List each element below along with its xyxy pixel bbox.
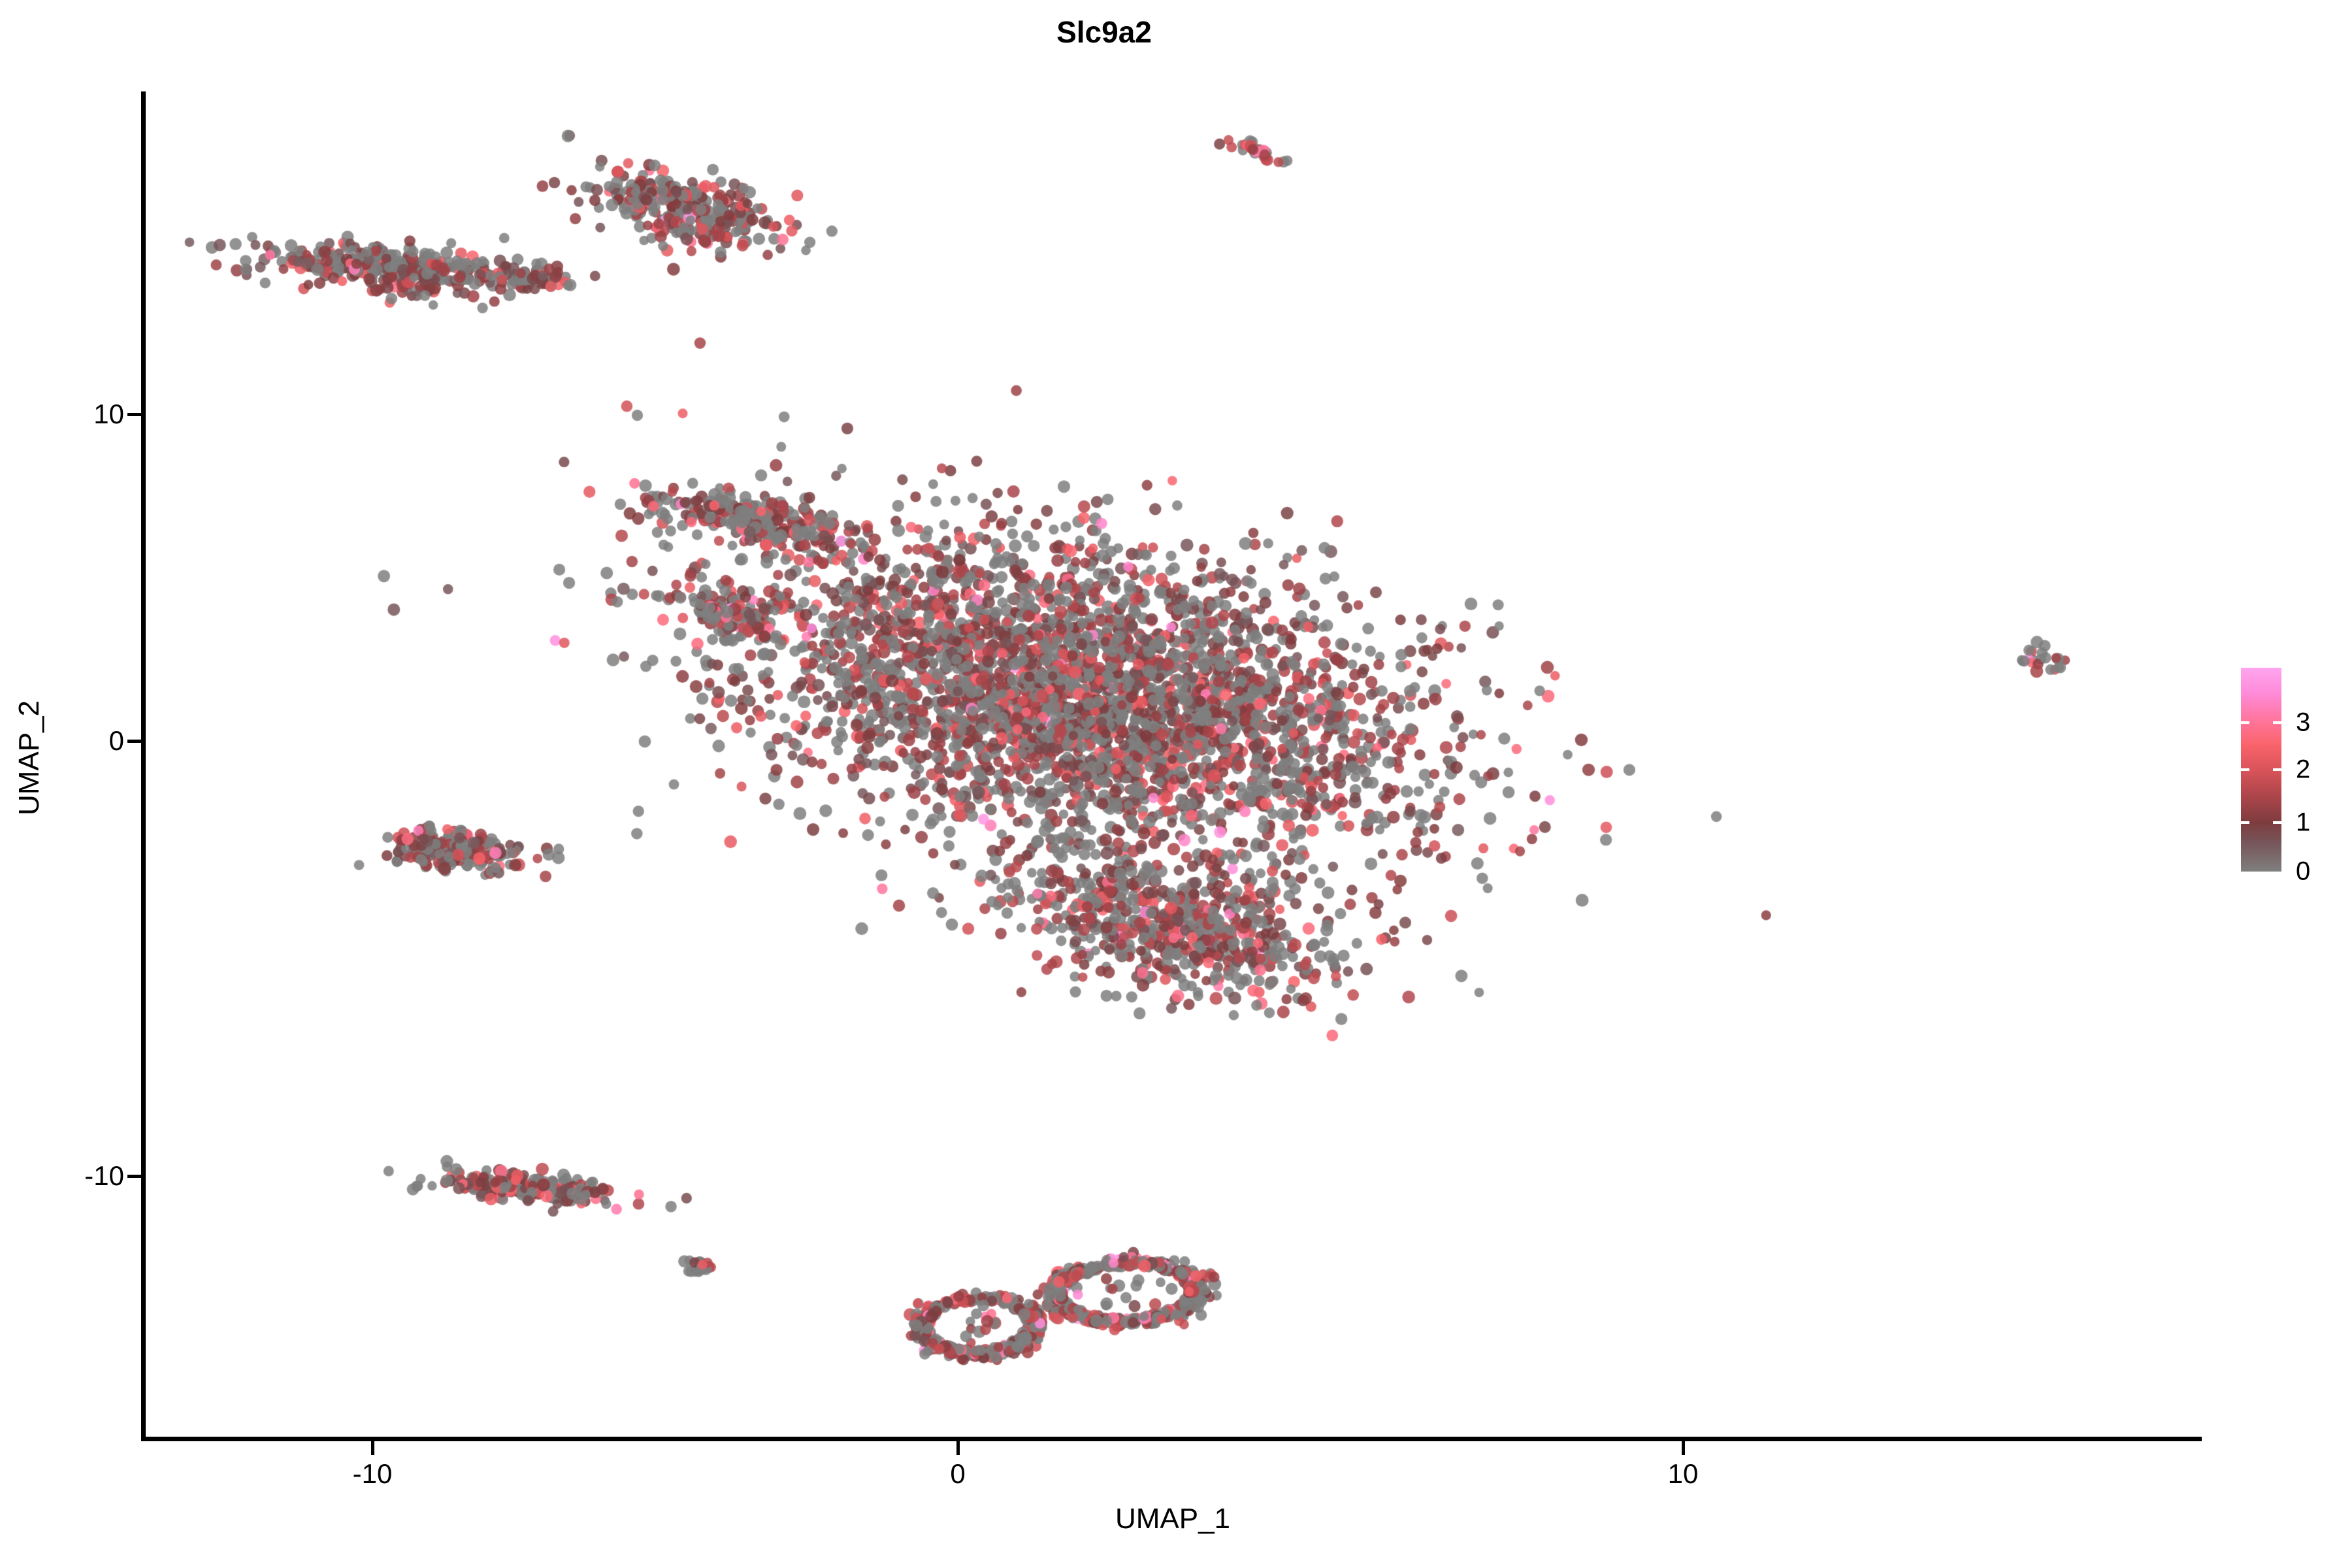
page-title: Slc9a2 bbox=[0, 14, 2208, 50]
y-axis-line bbox=[141, 91, 146, 1441]
y-tick-label: -10 bbox=[84, 1160, 124, 1191]
x-axis-line bbox=[141, 1437, 2202, 1441]
x-tick-mark bbox=[956, 1441, 960, 1455]
legend-tick-label: 1 bbox=[2296, 808, 2310, 838]
color-legend: 3210 bbox=[2241, 668, 2339, 877]
legend-tick-mark bbox=[2273, 721, 2281, 724]
plot-panel bbox=[144, 91, 2202, 1439]
legend-tick-label: 0 bbox=[2296, 857, 2310, 887]
y-tick-mark bbox=[127, 413, 141, 416]
scatter-point-layer bbox=[144, 91, 2202, 1439]
legend-tick-mark bbox=[2241, 768, 2249, 771]
x-axis-title: UMAP_1 bbox=[144, 1503, 2202, 1535]
y-tick-label-wrap: -10 bbox=[0, 1160, 124, 1192]
legend-tick-mark bbox=[2273, 768, 2281, 771]
x-tick-label: 10 bbox=[1668, 1458, 1699, 1490]
y-tick-label: 0 bbox=[109, 725, 124, 756]
x-tick-mark bbox=[371, 1441, 374, 1455]
y-tick-mark bbox=[127, 740, 141, 743]
legend-tick-mark bbox=[2273, 821, 2281, 824]
y-tick-label: 10 bbox=[93, 399, 124, 429]
legend-tick-label: 3 bbox=[2296, 708, 2310, 738]
y-tick-label-wrap: 10 bbox=[0, 399, 124, 430]
legend-tick-label: 2 bbox=[2296, 755, 2310, 785]
legend-tick-mark bbox=[2241, 721, 2249, 724]
legend-tick-mark bbox=[2241, 821, 2249, 824]
y-tick-mark bbox=[127, 1175, 141, 1178]
x-tick-label: -10 bbox=[353, 1458, 393, 1490]
x-tick-label: 0 bbox=[950, 1458, 965, 1490]
y-axis-title: UMAP_2 bbox=[13, 431, 46, 1085]
umap-feature-plot: Slc9a2 100-10 -10010 UMAP_1 UMAP_2 3210 bbox=[0, 0, 2352, 1568]
x-tick-mark bbox=[1682, 1441, 1685, 1455]
